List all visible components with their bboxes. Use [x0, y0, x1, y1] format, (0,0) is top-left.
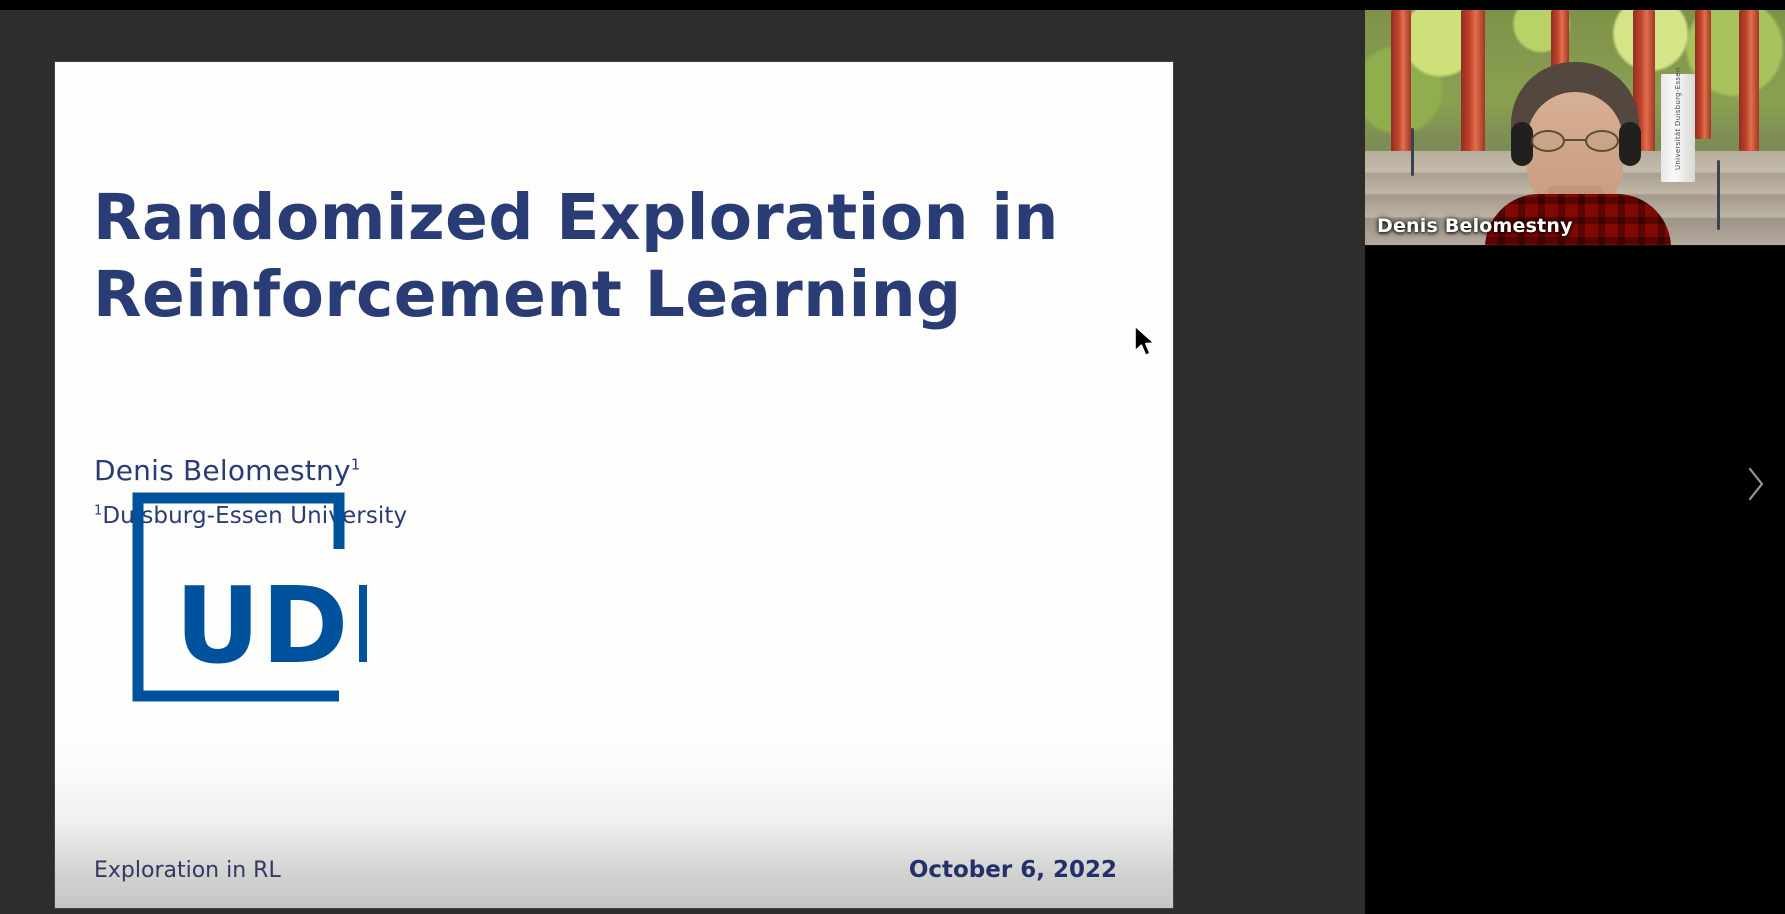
background-handrail [1411, 128, 1414, 176]
background-handrail [1717, 160, 1720, 230]
shared-screen-stage[interactable]: Randomized Exploration in Reinforcement … [0, 10, 1365, 914]
glasses-bridge [1565, 139, 1585, 141]
slide-title: Randomized Exploration in Reinforcement … [93, 180, 1073, 334]
tile-divider [1365, 245, 1785, 246]
slide-title-line-2: Reinforcement Learning [93, 257, 1073, 334]
screen-share-view: Randomized Exploration in Reinforcement … [0, 0, 1785, 914]
glasses-lens-left [1531, 130, 1565, 152]
slide-author-footnote-marker: 1 [351, 456, 361, 474]
participant-webcam-feed: Universität Duisburg-Essen [1365, 10, 1785, 245]
background-pillar [1739, 10, 1759, 151]
participant-video-tile[interactable]: Universität Duisburg-Essen Deni [1365, 10, 1785, 245]
ude-logo-wordmark: UDE [175, 565, 367, 687]
glasses-lens-right [1585, 130, 1619, 152]
background-pillar [1391, 10, 1411, 165]
top-black-strip [0, 0, 1365, 10]
slide-footer-right: October 6, 2022 [909, 857, 1117, 883]
background-pillar [1695, 10, 1711, 139]
slide-title-line-1: Randomized Exploration in [93, 180, 1073, 257]
participant-name-label: Denis Belomestny [1377, 215, 1573, 237]
slide-author: Denis Belomestny1 [94, 454, 360, 487]
presentation-slide[interactable]: Randomized Exploration in Reinforcement … [55, 62, 1173, 908]
ude-logo: UDE [127, 487, 367, 707]
person-glasses [1529, 130, 1623, 152]
chevron-right-icon[interactable] [1745, 466, 1767, 502]
slide-canvas: Randomized Exploration in Reinforcement … [55, 62, 1173, 908]
background-pillar [1461, 10, 1485, 165]
slide-author-name: Denis Belomestny [94, 454, 351, 487]
slide-footer-left: Exploration in RL [94, 858, 281, 883]
participant-rail: Universität Duisburg-Essen Deni [1365, 0, 1785, 914]
signpost-label: Universität Duisburg-Essen [1674, 67, 1683, 170]
